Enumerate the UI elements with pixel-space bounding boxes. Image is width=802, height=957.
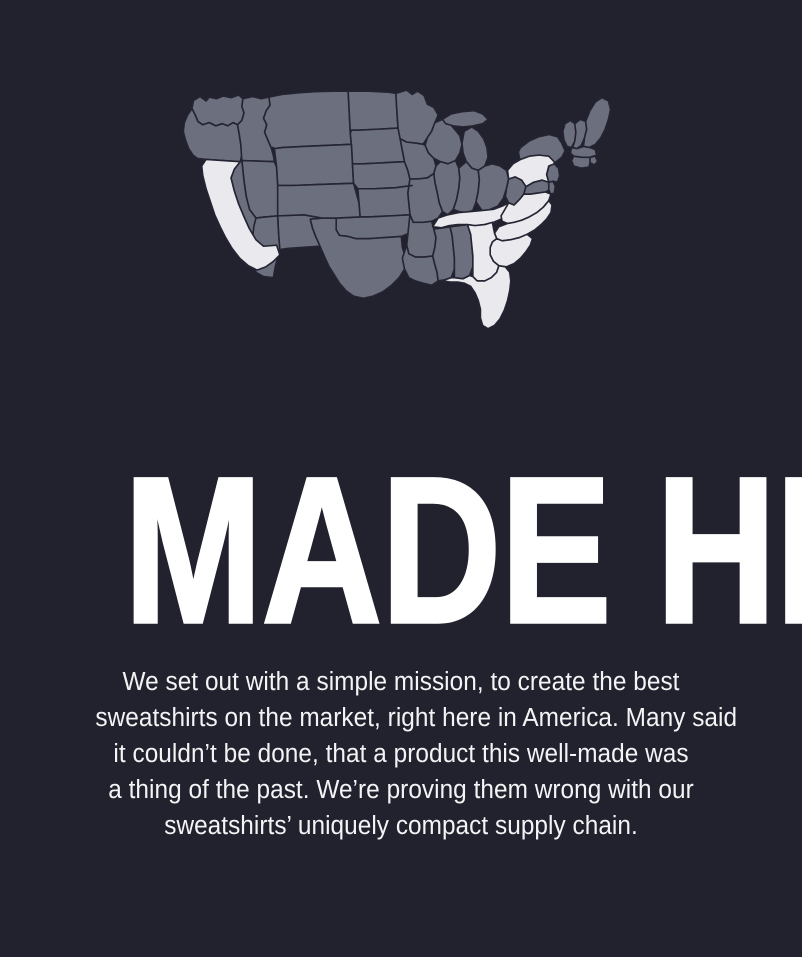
state-south-dakota [350,128,404,164]
intro-line-3: it couldn’t be done, that a product this… [95,736,706,772]
state-wyoming [274,144,353,185]
state-colorado [277,183,361,218]
intro-paragraph: We set out with a simple mission, to cre… [81,664,721,844]
state-north-dakota [348,91,398,133]
state-montana [264,91,352,148]
intro-line-2: sweatshirts on the market, right here in… [95,700,706,736]
intro-line-5: sweatshirts’ uniquely compact supply cha… [95,808,706,844]
state-rhode-island [590,156,598,165]
state-ohio [476,164,509,212]
state-nebraska [352,162,412,189]
map-section [0,0,802,470]
state-delaware [549,181,556,194]
state-oklahoma [336,215,412,239]
state-connecticut [572,156,590,168]
headline-block: MADE HERE [0,472,802,630]
intro-line-4: a thing of the past. We’re proving them … [95,772,706,808]
state-maine [583,98,610,148]
state-washington [192,95,244,126]
state-kansas [358,186,412,217]
united-states-map [141,75,661,405]
page-title: MADE HERE [124,472,802,630]
intro-line-1: We set out with a simple mission, to cre… [95,664,706,700]
state-michigan-upper [442,111,488,127]
